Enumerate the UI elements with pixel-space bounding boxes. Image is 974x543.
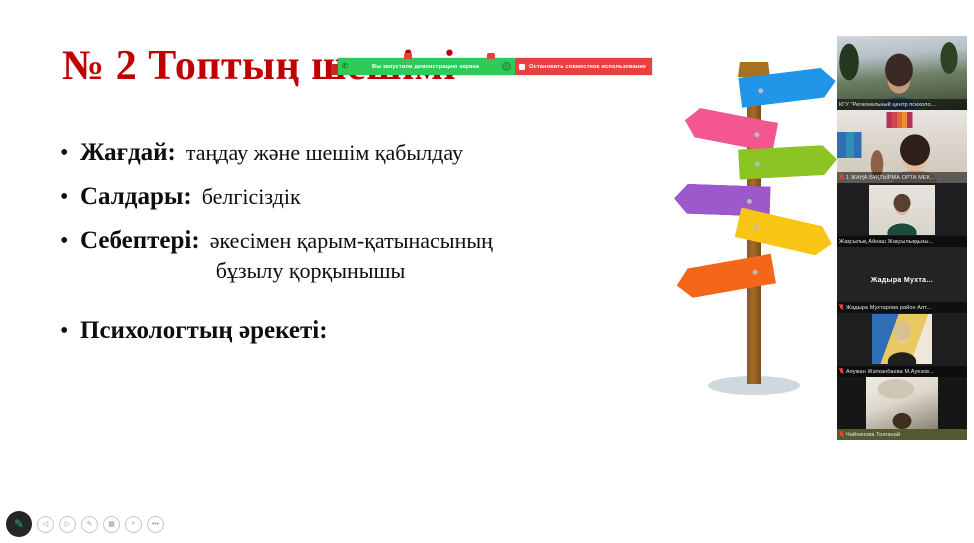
- participant-name: Жадыра Мухтарова район Алт...: [846, 305, 931, 311]
- list-item: • Салдары: белгісіздік: [60, 182, 660, 212]
- more-options-button[interactable]: •••: [147, 516, 164, 533]
- video-tile[interactable]: Аяужан Жатканбаева М.Ауезов...: [837, 313, 967, 377]
- participant-silhouette: [869, 185, 935, 235]
- bullet-marker: •: [60, 138, 80, 168]
- bullet-label: Салдары:: [80, 182, 192, 212]
- bullet-marker: •: [60, 316, 80, 346]
- signpost-illustration: [640, 40, 845, 400]
- phone-icon: ✆: [342, 63, 349, 70]
- participant-name: 1 ЖАҢА БҰҚТЫРМА ОРТА МЕК...: [846, 175, 935, 181]
- video-tile[interactable]: КГУ "Региональный центр психоло...: [837, 36, 967, 110]
- video-participant-strip[interactable]: КГУ "Региональный центр психоло... 1 ЖАҢ…: [837, 36, 967, 440]
- mic-muted-icon: [839, 304, 844, 311]
- spacer: [60, 300, 660, 316]
- participant-name-bar: Жадыра Мухтарова район Алт...: [837, 302, 967, 313]
- shield-pause-icon[interactable]: [502, 62, 511, 71]
- previous-slide-button[interactable]: ◁: [37, 516, 54, 533]
- bullet-value: әкесімен қарым-қатынасының бұзылу қорқын…: [210, 226, 493, 286]
- video-tile-active-speaker[interactable]: Жақсылық Айнаш Жақсылыққызы...: [837, 183, 967, 247]
- list-item: • Жағдай: таңдау және шешім қабылдау: [60, 138, 660, 168]
- mic-muted-icon: [839, 368, 844, 375]
- banner-tab-icon: [404, 53, 412, 59]
- screen-share-banner[interactable]: ✆ Вы запустили демонстрацию экрана Остан…: [338, 58, 652, 75]
- participant-silhouette: [872, 314, 932, 364]
- bullet-label: Психологтың әрекеті:: [80, 316, 328, 346]
- stop-sharing-label: Остановить совместное использование: [529, 64, 646, 70]
- arrow-pink: [682, 105, 778, 152]
- participant-name-bar: Аяужан Жатканбаева М.Ауезов...: [837, 366, 967, 377]
- participant-silhouette: [866, 377, 938, 429]
- zoom-in-button[interactable]: ⌕: [125, 516, 142, 533]
- list-item: • Психологтың әрекеті:: [60, 316, 660, 346]
- video-tile-no-video[interactable]: Жадыра Мухта... Жадыра Мухтарова район А…: [837, 247, 967, 313]
- bullet-list: • Жағдай: таңдау және шешім қабылдау • С…: [60, 138, 660, 360]
- participant-name: Аяужан Жатканбаева М.Ауезов...: [846, 369, 934, 375]
- bullet-value: белгісіздік: [202, 182, 301, 212]
- participant-name: КГУ "Региональный центр психоло...: [839, 102, 936, 108]
- bullet-label: Себептері:: [80, 226, 200, 256]
- bullet-value-line1: әкесімен қарым-қатынасының: [210, 228, 493, 253]
- participant-name-bar: Чайхинова Толганай: [837, 429, 967, 440]
- presentation-slide: № 2 Топтың шешімі • Жағдай: таңдау және …: [0, 0, 974, 543]
- bullet-value-line2: бұзылу қорқынышы: [216, 256, 493, 286]
- video-tile[interactable]: 1 ЖАҢА БҰҚТЫРМА ОРТА МЕК...: [837, 110, 967, 183]
- participant-display-name: Жадыра Мухта...: [871, 277, 933, 284]
- mic-muted-icon: [839, 174, 844, 181]
- pen-tool-button[interactable]: ✎: [6, 511, 32, 537]
- bullet-label: Жағдай:: [80, 138, 176, 168]
- all-slides-button[interactable]: ▦: [103, 516, 120, 533]
- mic-muted-icon: [839, 431, 844, 438]
- presenter-toolbar[interactable]: ✎ ◁ ▷ ✎ ▦ ⌕ •••: [6, 511, 164, 537]
- sharing-status-text: Вы запустили демонстрацию экрана: [354, 64, 497, 70]
- pen-tool-secondary-button[interactable]: ✎: [81, 516, 98, 533]
- participant-name-bar: 1 ЖАҢА БҰҚТЫРМА ОРТА МЕК...: [837, 172, 967, 183]
- bullet-marker: •: [60, 226, 80, 256]
- participant-name-bar: КГУ "Региональный центр психоло...: [837, 99, 967, 110]
- arrow-green: [738, 144, 837, 179]
- sharing-status[interactable]: ✆ Вы запустили демонстрацию экрана: [338, 58, 515, 75]
- participant-name-bar: Жақсылық Айнаш Жақсылыққызы...: [837, 236, 967, 247]
- stop-square-icon: [519, 64, 525, 70]
- participant-name: Чайхинова Толганай: [846, 432, 900, 438]
- participant-name: Жақсылық Айнаш Жақсылыққызы...: [839, 239, 933, 245]
- banner-tab-icon: [487, 53, 495, 59]
- next-slide-button[interactable]: ▷: [59, 516, 76, 533]
- stop-sharing-button[interactable]: Остановить совместное использование: [515, 58, 652, 75]
- list-item: • Себептері: әкесімен қарым-қатынасының …: [60, 226, 660, 286]
- video-tile[interactable]: Чайхинова Толганай: [837, 377, 967, 440]
- bullet-marker: •: [60, 182, 80, 212]
- bullet-value: таңдау және шешім қабылдау: [186, 138, 463, 168]
